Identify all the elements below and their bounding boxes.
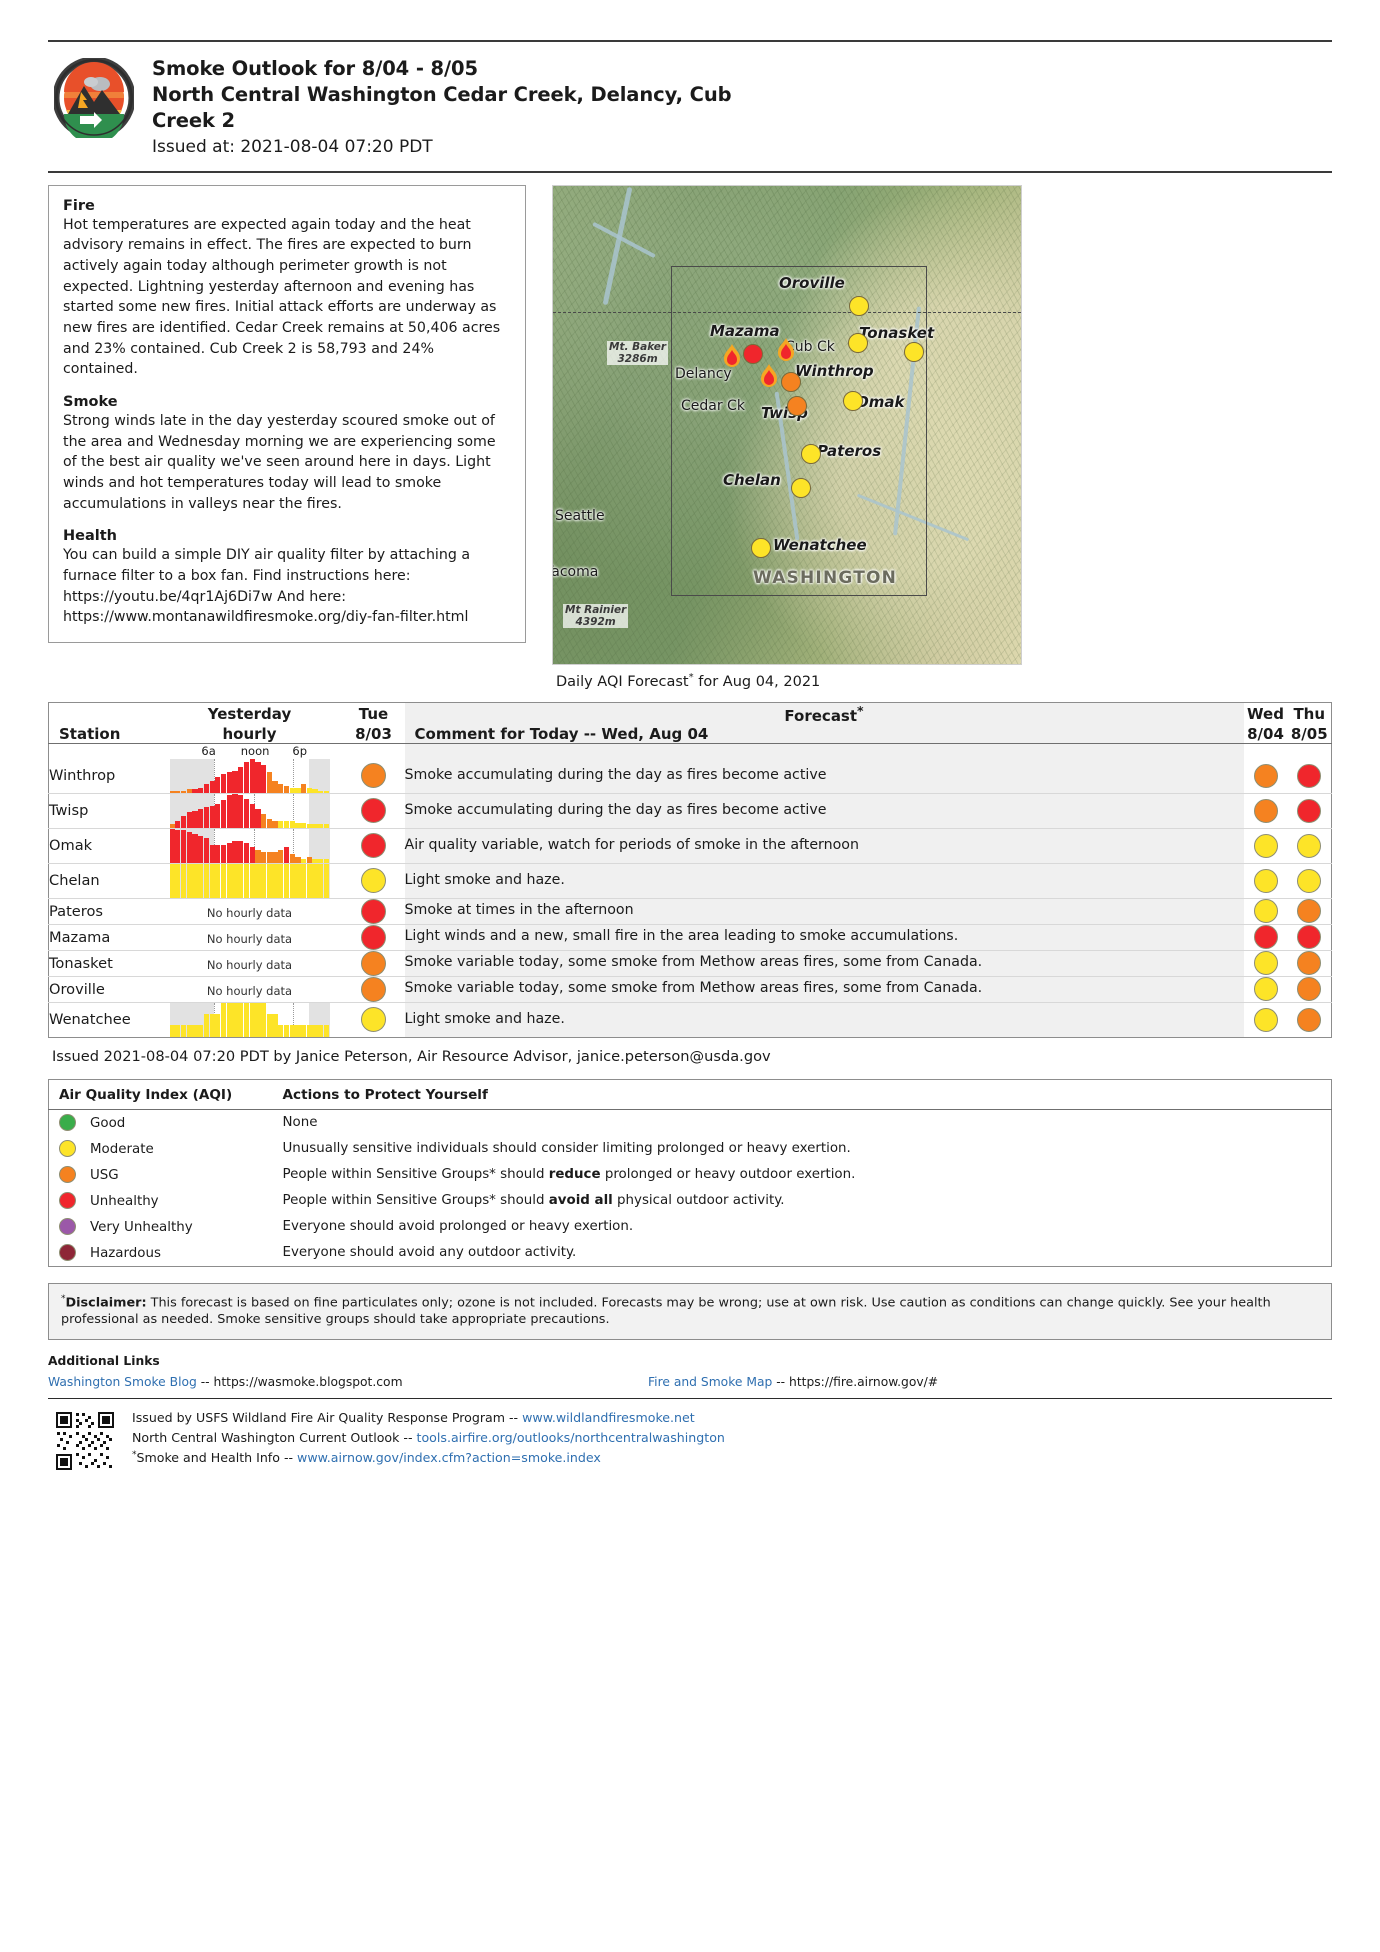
header-text-block: Smoke Outlook for 8/04 - 8/05 North Cent… <box>152 52 1332 157</box>
aqi-dot-thu <box>1288 759 1332 794</box>
sparkline-bar <box>312 789 317 792</box>
sparkline-bar <box>238 864 243 898</box>
no-hourly-data-label: No hourly data <box>207 958 292 972</box>
map-marker-wenatchee <box>751 538 771 558</box>
map-label-tonasket: Tonasket <box>859 324 934 342</box>
sparkline-bar <box>192 789 197 792</box>
sparkline-bar <box>284 864 289 898</box>
aqi-level-cell: Hazardous <box>49 1240 267 1267</box>
sparkline-bar <box>307 1025 312 1036</box>
station-name: Mazama <box>49 924 157 950</box>
aqi-action-text: None <box>267 1109 1332 1136</box>
forecast-comment: Air quality variable, watch for periods … <box>405 828 1244 863</box>
footer-current-outlook-text: North Central Washington Current Outlook… <box>132 1430 417 1445</box>
sparkline-bars <box>170 864 330 898</box>
sparkline-bar <box>250 804 255 828</box>
aqi-dot-thu <box>1288 793 1332 828</box>
no-hourly-data-label: No hourly data <box>207 932 292 946</box>
sparkline-bar <box>187 789 192 792</box>
sparkline-bar <box>227 864 232 898</box>
aqi-dot-icon <box>1254 764 1278 788</box>
sparkline-bar <box>267 852 272 863</box>
footer-links: Issued by USFS Wildland Fire Air Quality… <box>132 1408 725 1469</box>
aqi-action-text: Unusually sensitive individuals should c… <box>267 1136 1332 1162</box>
aqi-dot-tue <box>343 976 405 1002</box>
sparkline-bar <box>301 864 306 898</box>
sparkline-bar <box>318 859 323 863</box>
sparkline-bar <box>267 864 272 898</box>
sparkline-bar <box>244 799 249 828</box>
table-row: TwispSmoke accumulating during the day a… <box>49 793 1332 828</box>
sparkline-bar <box>198 836 203 863</box>
aqi-dot-tue <box>343 1002 405 1037</box>
map-marker-twisp <box>787 396 807 416</box>
sparkline-bar <box>227 1003 232 1037</box>
sparkline-bar <box>284 847 289 863</box>
aqi-action-text: People within Sensitive Groups* should r… <box>267 1162 1332 1188</box>
wildlandfiresmoke-link[interactable]: www.wildlandfiresmoke.net <box>522 1410 695 1425</box>
sparkline-bar <box>210 845 215 863</box>
sparkline-bar <box>175 1025 180 1036</box>
hourly-sparkline-cell: No hourly data <box>157 924 343 950</box>
smoke-section-text: Strong winds late in the day yesterday s… <box>63 411 511 514</box>
aqi-level-cell: Good <box>49 1109 267 1136</box>
aqi-level-label: Very Unhealthy <box>90 1220 193 1235</box>
smoke-outlook-page: Smoke Outlook for 8/04 - 8/05 North Cent… <box>0 0 1380 1952</box>
sparkline-bar <box>324 864 329 898</box>
aqi-dot-wed <box>1244 828 1288 863</box>
sparkline-bar <box>170 791 175 793</box>
sparkline-bar <box>278 821 283 828</box>
table-row: OmakAir quality variable, watch for peri… <box>49 828 1332 863</box>
aqi-dot-icon <box>1254 977 1278 1001</box>
sparkline-bars <box>170 759 330 793</box>
sparkline-bar <box>290 864 295 898</box>
forecast-comment: Light smoke and haze. <box>405 863 1244 898</box>
sparkline-bar <box>255 1003 260 1037</box>
forecast-comment: Smoke accumulating during the day as fir… <box>405 759 1244 794</box>
list-item: HazardousEveryone should avoid any outdo… <box>49 1240 1332 1267</box>
aqi-dot-icon <box>361 798 386 823</box>
sparkline-bar <box>307 824 312 827</box>
list-item: UnhealthyPeople within Sensitive Groups*… <box>49 1188 1332 1214</box>
hourly-sparkline <box>170 829 330 863</box>
map-marker-cub-ck <box>848 333 868 353</box>
footer-line-2: North Central Washington Current Outlook… <box>132 1428 725 1448</box>
sparkline-bars <box>170 794 330 828</box>
sparkline-bar <box>210 864 215 898</box>
sparkline-bar <box>192 811 197 828</box>
sparkline-bar <box>272 781 277 793</box>
aqi-legend-body: GoodNoneModerateUnusually sensitive indi… <box>49 1109 1332 1266</box>
sparkline-bar <box>295 1025 300 1036</box>
aqi-level-label: Good <box>90 1116 125 1131</box>
action-text-emphasis: avoid all <box>549 1193 613 1208</box>
sparkline-bar <box>215 777 220 792</box>
sparkline-bar <box>175 830 180 862</box>
sparkline-bar <box>295 864 300 898</box>
aqi-level-label: USG <box>90 1168 119 1183</box>
header-thu: Thu <box>1288 702 1332 725</box>
aqi-dot-wed <box>1244 924 1288 950</box>
map-label-washington: WASHINGTON <box>753 568 897 588</box>
aqi-level-dot-icon <box>59 1218 76 1235</box>
station-name: Tonasket <box>49 950 157 976</box>
aqi-dot-thu <box>1288 828 1332 863</box>
sparkline-bar <box>267 772 272 792</box>
list-item: Very UnhealthyEveryone should avoid prol… <box>49 1214 1332 1240</box>
airnow-smoke-link[interactable]: www.airnow.gov/index.cfm?action=smoke.in… <box>297 1451 601 1466</box>
aqi-dot-icon <box>1254 899 1278 923</box>
aqi-dot-icon <box>1254 869 1278 893</box>
fire-and-smoke-map-url: https://fire.airnow.gov/# <box>789 1375 938 1389</box>
sparkline-bar <box>272 821 277 828</box>
sparkline-bar <box>204 1014 209 1037</box>
hourly-sparkline-cell <box>157 759 343 794</box>
aqi-dot-tue <box>343 828 405 863</box>
outlook-title-line1: Smoke Outlook for 8/04 - 8/05 <box>152 56 1332 82</box>
forecast-comment: Light winds and a new, small fire in the… <box>405 924 1244 950</box>
disclaimer-text: This forecast is based on fine particula… <box>61 1295 1271 1327</box>
forecast-table-header-row1: Yesterday Tue Forecast* Wed Thu <box>49 702 1332 725</box>
aqi-dot-icon <box>1297 899 1321 923</box>
aqi-level-cell: USG <box>49 1162 267 1188</box>
forecast-comment: Smoke variable today, some smoke from Me… <box>405 976 1244 1002</box>
no-hourly-data-label: No hourly data <box>207 984 292 998</box>
aqi-dot-icon <box>361 763 386 788</box>
sparkline-bar <box>307 864 312 898</box>
hourly-sparkline-cell: No hourly data <box>157 898 343 924</box>
sparkline-bar <box>278 784 283 793</box>
sparkline-bar <box>318 824 323 827</box>
sparkline-bar <box>170 829 175 863</box>
aqi-level-cell: Moderate <box>49 1136 267 1162</box>
map-label-omak: Omak <box>856 393 904 411</box>
map-label-cedar-ck: Cedar Ck <box>681 398 745 414</box>
sparkline-bar <box>301 1025 306 1036</box>
sparkline-bar <box>175 821 180 828</box>
sparkline-bar <box>324 1025 329 1036</box>
sparkline-bar <box>227 795 232 827</box>
sparkline-bar <box>301 859 306 863</box>
washington-smoke-blog-link[interactable]: Washington Smoke Blog <box>48 1375 197 1389</box>
aqi-dot-icon <box>361 899 386 924</box>
map-marker-mazama <box>743 344 763 364</box>
sparkline-bar <box>250 759 255 793</box>
sparkline-bar <box>261 864 266 898</box>
hourly-sparkline <box>170 794 330 828</box>
map-peak-mt-rainier: Mt Rainier4392m <box>563 604 628 628</box>
sparkline-bar <box>312 1025 317 1036</box>
sparkline-bar <box>318 864 323 898</box>
aqi-legend-col-actions: Actions to Protect Yourself <box>267 1079 1332 1109</box>
map-caption-main: Daily AQI Forecast <box>556 674 689 690</box>
additional-links-left: Washington Smoke Blog -- https://wasmoke… <box>48 1375 648 1389</box>
station-name: Oroville <box>49 976 157 1002</box>
map-marker-oroville <box>849 296 869 316</box>
sparkline-bar <box>170 824 175 827</box>
sparkline-bar <box>221 1003 226 1037</box>
table-row: TonasketNo hourly dataSmoke variable tod… <box>49 950 1332 976</box>
hourly-sparkline-cell <box>157 828 343 863</box>
disclaimer-box: *Disclaimer: This forecast is based on f… <box>48 1283 1332 1340</box>
hourly-sparkline <box>170 759 330 793</box>
sparkline-bar <box>295 823 300 828</box>
sparkline-bar <box>278 864 283 898</box>
sparkline-bar <box>255 850 260 863</box>
sparkline-bar <box>192 864 197 898</box>
sparkline-bars <box>170 829 330 863</box>
aqi-dot-thu <box>1288 1002 1332 1037</box>
aqi-dot-icon <box>361 951 386 976</box>
footer-rule <box>48 1398 1332 1399</box>
sparkline-bar <box>284 1025 289 1036</box>
hourly-sparkline-cell <box>157 793 343 828</box>
map-dashed-boundary <box>553 312 1021 313</box>
sparkline-bar <box>238 795 243 827</box>
sparkline-bar <box>290 854 295 863</box>
sparkline-bar <box>295 788 300 793</box>
agency-logo-icon <box>54 58 134 138</box>
sparkline-bar <box>318 1025 323 1036</box>
aqi-dot-icon <box>1297 834 1321 858</box>
aqi-level-dot-icon <box>59 1192 76 1209</box>
station-name: Twisp <box>49 793 157 828</box>
aqi-level-dot-icon <box>59 1244 76 1261</box>
aqi-dot-icon <box>361 833 386 858</box>
sparkline-bar <box>238 1003 243 1037</box>
aqi-action-text: Everyone should avoid any outdoor activi… <box>267 1240 1332 1267</box>
aqi-dot-wed <box>1244 863 1288 898</box>
header-wed: Wed <box>1244 702 1288 725</box>
aqi-dot-icon <box>361 977 386 1002</box>
sparkline-bar <box>318 791 323 793</box>
map-label-mazama: Mazama <box>710 322 780 340</box>
sparkline-bar <box>210 1014 215 1037</box>
sparkline-bar <box>290 821 295 828</box>
hourly-sparkline <box>170 1003 330 1037</box>
sparkline-bar <box>324 859 329 863</box>
sparkline-bar <box>307 788 312 793</box>
forecast-comment: Smoke accumulating during the day as fir… <box>405 793 1244 828</box>
sparkline-bar <box>232 841 237 862</box>
map-fire-icon-2 <box>758 364 780 390</box>
aqi-legend-table: Air Quality Index (AQI) Actions to Prote… <box>48 1079 1332 1267</box>
action-text-emphasis: reduce <box>549 1167 601 1182</box>
sparkline-bar <box>204 784 209 793</box>
tick-6a: 6a <box>201 744 215 758</box>
sparkline-bar <box>307 857 312 862</box>
sparkline-bar <box>227 772 232 792</box>
sparkline-bar <box>187 832 192 862</box>
sparkline-bar <box>261 814 266 828</box>
aqi-dot-icon <box>361 868 386 893</box>
sparkline-bar <box>204 807 209 827</box>
station-name: Omak <box>49 828 157 863</box>
sparkline-bar <box>255 809 260 828</box>
sparkline-bar <box>272 852 277 863</box>
outlook-title-line3: Creek 2 <box>152 108 1332 134</box>
aqi-dot-icon <box>1254 1008 1278 1032</box>
tick-6p: 6p <box>292 744 307 758</box>
sparkline-bar <box>244 864 249 898</box>
aqi-dot-icon <box>1254 951 1278 975</box>
sparkline-bar <box>290 788 295 793</box>
aqi-dot-icon <box>1297 951 1321 975</box>
additional-links-title: Additional Links <box>48 1354 1332 1368</box>
sparkline-bar <box>215 1014 220 1037</box>
sparkline-bar <box>198 788 203 793</box>
map-peak-mt-baker: Mt. Baker3286m <box>607 341 668 365</box>
sparkline-bar <box>261 765 266 792</box>
health-section-text: You can build a simple DIY air quality f… <box>63 545 511 628</box>
fire-section-heading: Fire <box>63 198 511 214</box>
aqi-level-dot-icon <box>59 1166 76 1183</box>
sparkline-bar <box>170 1025 175 1036</box>
sparkline-bar <box>181 816 186 828</box>
aqi-dot-wed <box>1244 898 1288 924</box>
map-label-wenatchee: Wenatchee <box>773 536 867 554</box>
summary-and-map-row: Fire Hot temperatures are expected again… <box>48 185 1332 690</box>
fire-section-text: Hot temperatures are expected again toda… <box>63 215 511 380</box>
sparkline-bar <box>312 859 317 863</box>
hourly-sparkline <box>170 864 330 898</box>
tick-noon: noon <box>241 744 270 758</box>
header-wed-date: 8/04 <box>1244 725 1288 744</box>
sparkline-bar <box>238 841 243 862</box>
sparkline-bar <box>272 1014 277 1037</box>
aqi-dot-tue <box>343 950 405 976</box>
sparkline-bar <box>204 838 209 863</box>
aqi-legend-header-row: Air Quality Index (AQI) Actions to Prote… <box>49 1079 1332 1109</box>
action-text-post: physical outdoor activity. <box>613 1193 785 1208</box>
sparkline-bar <box>284 786 289 793</box>
hourly-sparkline-cell <box>157 863 343 898</box>
sparkline-bar <box>192 1025 197 1036</box>
hourly-axis-tick-row: 6a noon 6p <box>49 743 1332 759</box>
hourly-tick-labels: 6a noon 6p <box>157 744 343 759</box>
aqi-dot-tue <box>343 898 405 924</box>
sparkline-bar <box>255 762 260 793</box>
header-hourly: hourly <box>157 725 343 744</box>
aqi-level-cell: Unhealthy <box>49 1188 267 1214</box>
aqi-dot-icon <box>1297 799 1321 823</box>
header-yesterday: Yesterday <box>157 702 343 725</box>
aqi-dot-icon <box>1297 1008 1321 1032</box>
fire-and-smoke-map-link[interactable]: Fire and Smoke Map <box>648 1375 772 1389</box>
footer-smoke-health-text: Smoke and Health Info -- <box>137 1451 298 1466</box>
table-row: ChelanLight smoke and haze. <box>49 863 1332 898</box>
document-header: Smoke Outlook for 8/04 - 8/05 North Cent… <box>48 42 1332 163</box>
aqi-action-text: People within Sensitive Groups* should a… <box>267 1188 1332 1214</box>
aqi-dot-thu <box>1288 898 1332 924</box>
sparkline-bar <box>187 864 192 898</box>
sparkline-bar <box>312 864 317 898</box>
header-station: Station <box>49 725 157 744</box>
header-bottom-rule <box>48 171 1332 173</box>
aqi-dot-thu <box>1288 950 1332 976</box>
footer-line-1: Issued by USFS Wildland Fire Air Quality… <box>132 1408 725 1428</box>
current-outlook-link[interactable]: tools.airfire.org/outlooks/northcentralw… <box>417 1430 725 1445</box>
aqi-level-label: Unhealthy <box>90 1194 159 1209</box>
map-marker-chelan <box>791 478 811 498</box>
issued-by-line: Issued 2021-08-04 07:20 PDT by Janice Pe… <box>52 1048 1332 1065</box>
right-link-separator: -- <box>772 1375 789 1389</box>
aqi-level-label: Moderate <box>90 1142 154 1157</box>
table-row: OrovilleNo hourly dataSmoke variable tod… <box>49 976 1332 1002</box>
header-comment: Comment for Today -- Wed, Aug 04 <box>405 725 1244 744</box>
aqi-legend-col-index: Air Quality Index (AQI) <box>49 1079 267 1109</box>
list-item: USGPeople within Sensitive Groups* shoul… <box>49 1162 1332 1188</box>
sparkline-bar <box>250 864 255 898</box>
action-text-pre: People within Sensitive Groups* should <box>283 1167 549 1182</box>
sparkline-bar <box>181 791 186 793</box>
aqi-dot-wed <box>1244 793 1288 828</box>
action-text-post: prolonged or heavy outdoor exertion. <box>601 1167 856 1182</box>
sparkline-bar <box>272 864 277 898</box>
sparkline-bar <box>244 762 249 793</box>
aqi-level-label: Hazardous <box>90 1246 161 1261</box>
header-tue-date: 8/03 <box>343 725 405 744</box>
left-link-separator: -- <box>197 1375 214 1389</box>
station-name: Chelan <box>49 863 157 898</box>
additional-links-right: Fire and Smoke Map -- https://fire.airno… <box>648 1375 938 1389</box>
aqi-dot-icon <box>1297 977 1321 1001</box>
list-item: ModerateUnusually sensitive individuals … <box>49 1136 1332 1162</box>
aqi-action-text: Everyone should avoid prolonged or heavy… <box>267 1214 1332 1240</box>
sparkline-bar <box>170 864 175 898</box>
sparkline-bar <box>232 1003 237 1037</box>
map-label-chelan: Chelan <box>723 471 781 489</box>
smoke-section-heading: Smoke <box>63 394 511 410</box>
sparkline-bar <box>227 843 232 863</box>
aqi-forecast-map[interactable]: Mt. Baker3286m Mt Rainier4392m Seattle T… <box>552 185 1022 665</box>
hourly-sparkline-cell: No hourly data <box>157 976 343 1002</box>
table-row: WenatcheeLight smoke and haze. <box>49 1002 1332 1037</box>
sparkline-bar <box>295 857 300 862</box>
footer-issued-by-text: Issued by USFS Wildland Fire Air Quality… <box>132 1410 522 1425</box>
sparkline-bar <box>232 794 237 828</box>
sparkline-bar <box>232 864 237 898</box>
aqi-dot-wed <box>1244 759 1288 794</box>
sparkline-bar <box>210 806 215 828</box>
header-forecast: Forecast* <box>405 702 1244 725</box>
forecast-table-header-row2: Station hourly 8/03 Comment for Today --… <box>49 725 1332 744</box>
aqi-dot-icon <box>361 925 386 950</box>
hourly-sparkline-cell: No hourly data <box>157 950 343 976</box>
sparkline-bar <box>181 1025 186 1036</box>
sparkline-bar <box>261 1003 266 1037</box>
aqi-dot-tue <box>343 793 405 828</box>
map-label-pateros: Pateros <box>817 442 881 460</box>
aqi-dot-tue <box>343 759 405 794</box>
aqi-dot-wed <box>1244 1002 1288 1037</box>
issued-at-text: Issued at: 2021-08-04 07:20 PDT <box>152 137 1332 157</box>
aqi-dot-thu <box>1288 976 1332 1002</box>
sparkline-bar <box>175 864 180 898</box>
sparkline-bar <box>244 843 249 863</box>
sparkline-bar <box>221 864 226 898</box>
hourly-sparkline-cell <box>157 1002 343 1037</box>
sparkline-bar <box>267 1014 272 1037</box>
sparkline-bar <box>250 847 255 863</box>
map-caption-date: for Aug 04, 2021 <box>694 674 821 690</box>
sparkline-bar <box>267 819 272 828</box>
aqi-dot-icon <box>1254 925 1278 949</box>
sparkline-bar <box>187 1025 192 1036</box>
sparkline-bar <box>238 767 243 793</box>
aqi-level-dot-icon <box>59 1114 76 1131</box>
